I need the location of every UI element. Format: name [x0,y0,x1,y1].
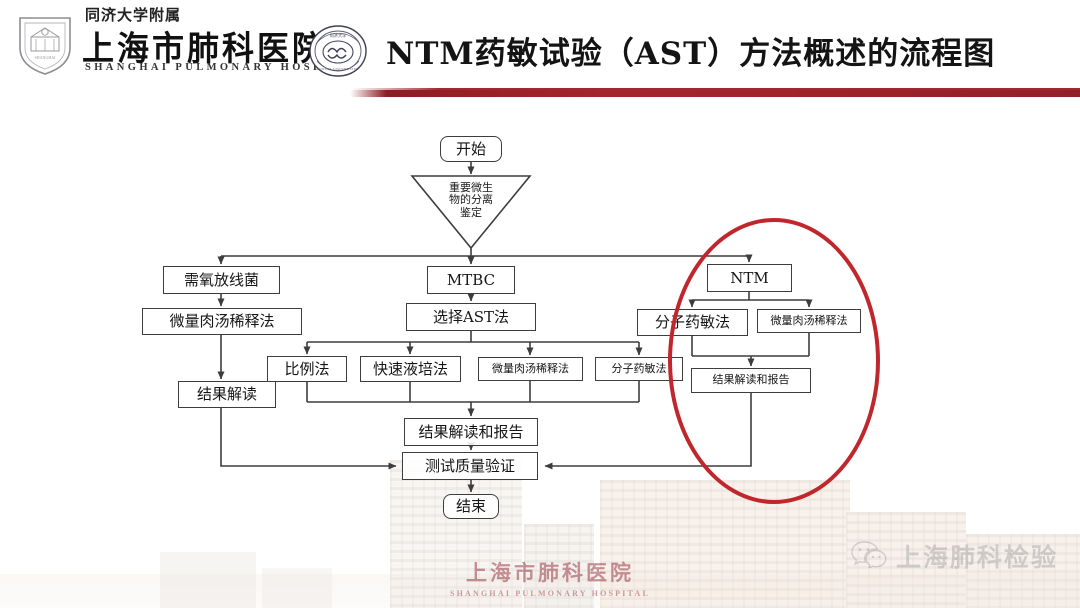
watermark-hospital-cn: 上海市肺科医院 [440,557,660,587]
tongji-university-seal-icon: 同济大学 TONGJI UNIVERSITY [308,24,368,78]
svg-text:TONGJI UNIVERSITY: TONGJI UNIVERSITY [316,67,359,71]
slide-header: SHANGHAI 同济大学附属 上海市肺科医院 SHANGHAI PULMONA… [0,0,1080,95]
watermark-hospital-en: SHANGHAI PULMONARY HOSPITAL [440,589,660,598]
node-start: 开始 [440,136,502,162]
title-rule [350,90,1080,97]
node-broth-microdilution-left: 微量肉汤稀释法 [142,308,302,335]
node-proportion-method: 比例法 [267,356,347,382]
node-select-ast-method: 选择AST法 [406,303,536,331]
node-end: 结束 [443,494,499,519]
node-result-report-main: 结果解读和报告 [404,418,538,446]
flowchart: 开始 重要微生物的分离鉴定 需氧放线菌 MTBC NTM 微量肉汤稀释法 选择A… [0,100,1080,545]
page-title: NTM药敏试验（AST）方法概述的流程图 [386,28,1066,73]
svg-text:SHANGHAI: SHANGHAI [35,55,57,60]
node-aerobic-actinomycete: 需氧放线菌 [163,266,280,294]
node-molecular-ast-ntm: 分子药敏法 [637,309,748,336]
node-molecular-ast-mtbc: 分子药敏法 [595,357,683,381]
node-broth-microdilution-mtbc: 微量肉汤稀释法 [478,357,583,381]
node-result-interpretation: 结果解读 [178,381,276,408]
node-rapid-liquid-culture: 快速液培法 [360,356,461,382]
slide-root: SHANGHAI 同济大学附属 上海市肺科医院 SHANGHAI PULMONA… [0,0,1080,608]
svg-text:同济大学: 同济大学 [330,32,347,39]
hospital-shield-icon: SHANGHAI [14,8,76,76]
node-isolation-label: 重要微生物的分离鉴定 [445,182,497,219]
node-broth-microdilution-ntm: 微量肉汤稀释法 [757,309,861,333]
node-ntm: NTM [707,264,792,292]
node-mtbc: MTBC [427,266,515,294]
node-result-report-ntm: 结果解读和报告 [691,368,811,393]
watermark-hospital-center: 上海市肺科医院 SHANGHAI PULMONARY HOSPITAL [440,557,660,598]
node-quality-verification: 测试质量验证 [402,452,538,480]
